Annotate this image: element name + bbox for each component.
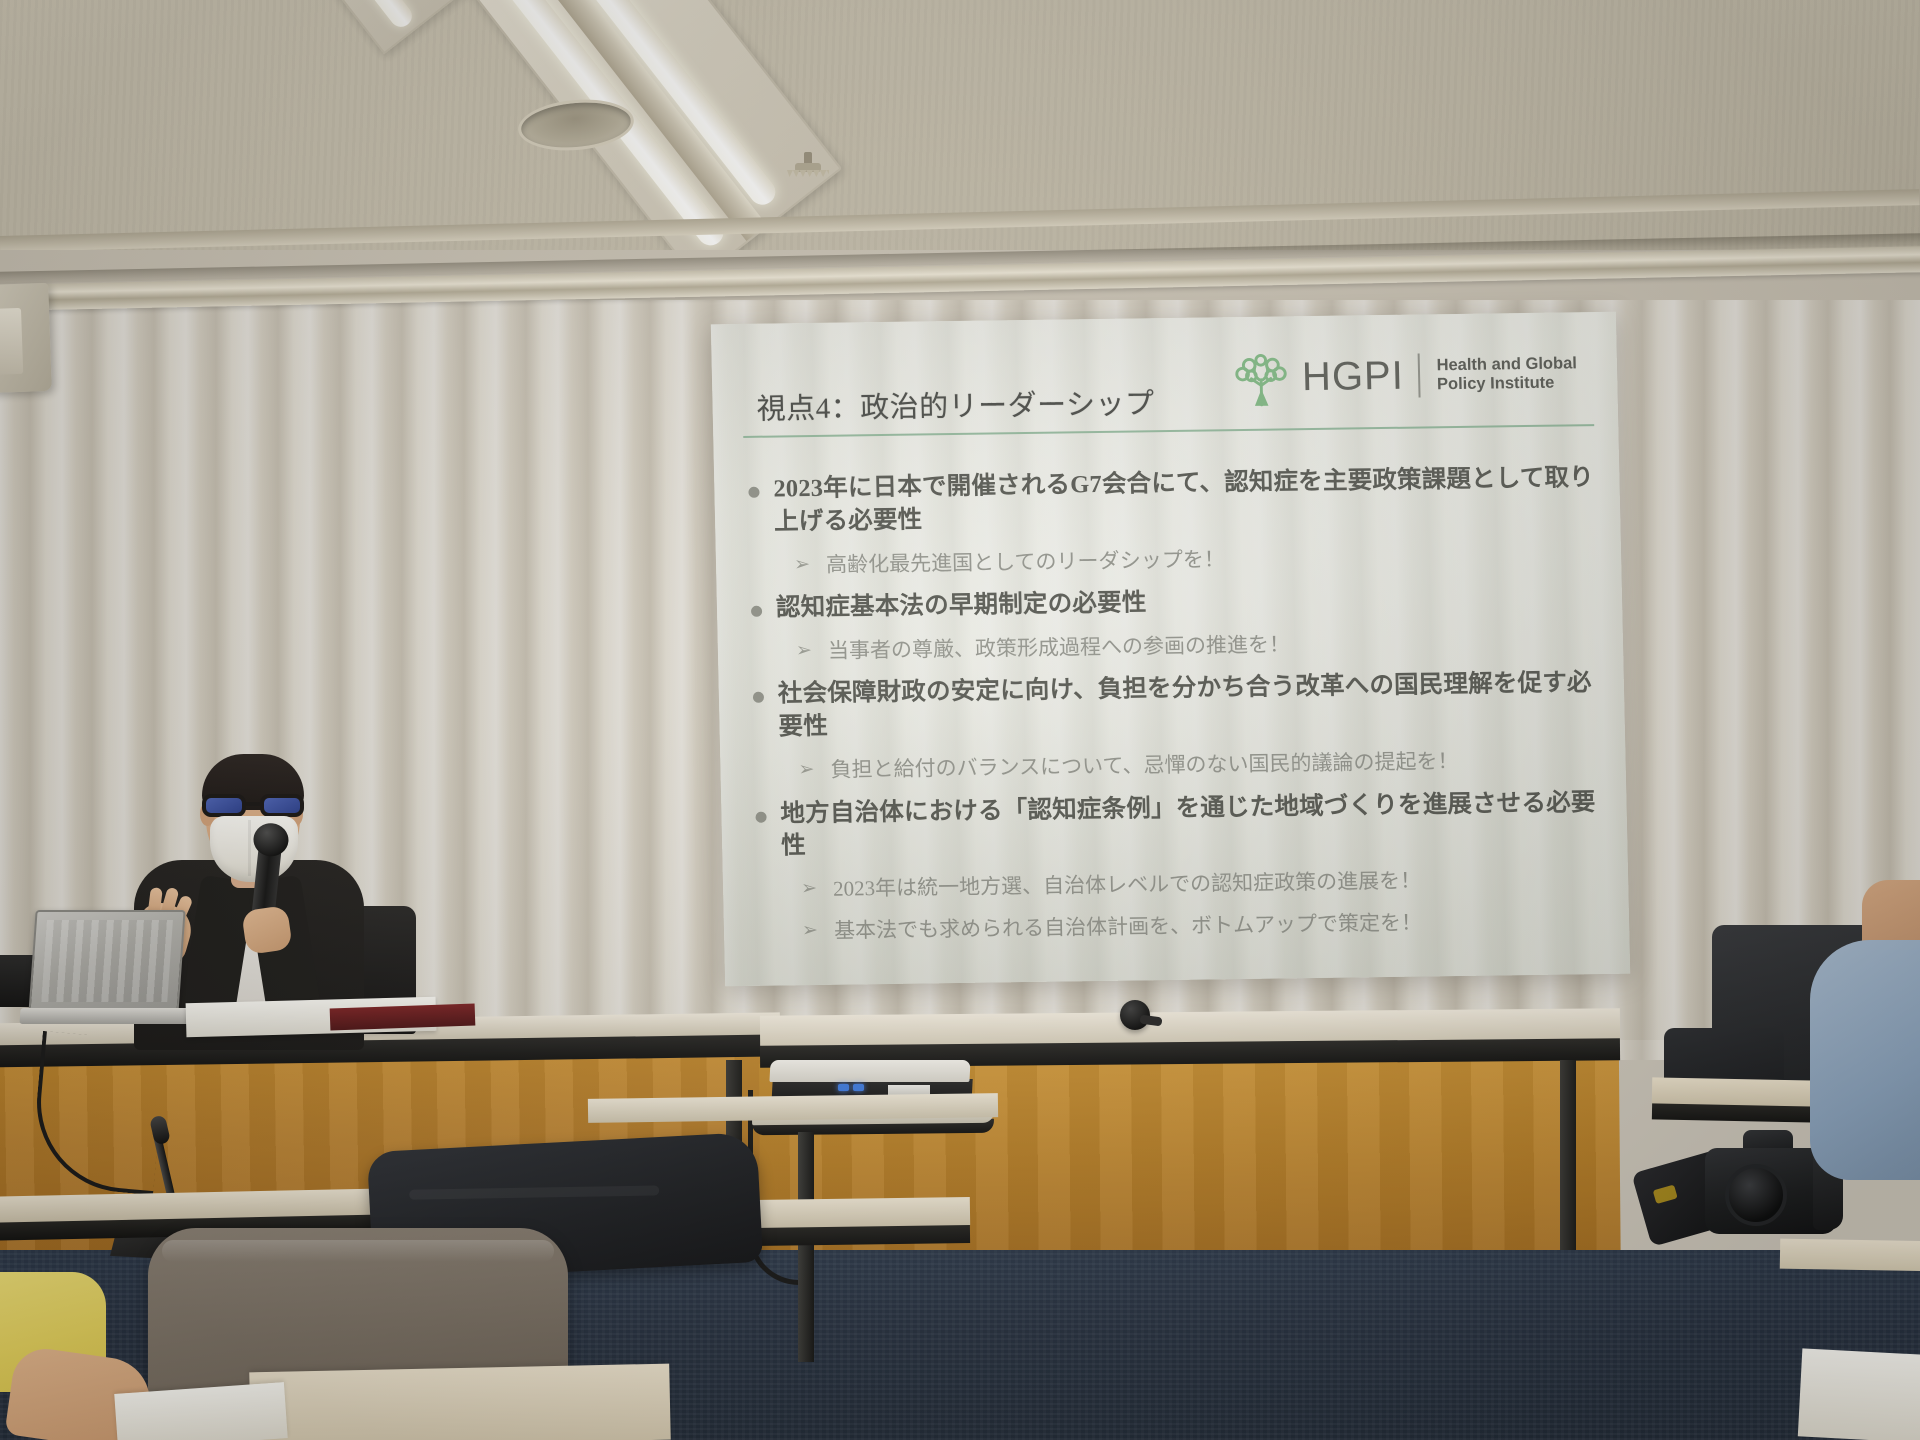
sprinkler-head-icon <box>785 152 831 186</box>
bullet-level1: 認知症基本法の早期制定の必要性 <box>751 581 1605 626</box>
hgpi-fullname-line1: Health and Global <box>1436 354 1577 375</box>
arrow-bullet-icon: ➢ <box>801 875 822 904</box>
hgpi-wordmark: HGPI <box>1302 356 1405 397</box>
right-desk-lower-top <box>1780 1239 1920 1272</box>
wall-speaker-icon <box>0 283 52 393</box>
bullet-text: 社会保障財政の安定に向け、負担を分かち合う改革への国民理解を促す必要性 <box>778 667 1607 744</box>
slide: 視点4：政治的リーダーシップ <box>711 312 1630 986</box>
slide-header: 視点4：政治的リーダーシップ <box>749 338 1584 458</box>
sprinkler-deflector <box>787 170 829 177</box>
projector-status-led <box>853 1084 864 1091</box>
laptop-base <box>19 1008 196 1024</box>
glasses-lens-left <box>202 794 246 817</box>
hgpi-logo: HGPI Health and Global Policy Institute <box>1229 342 1577 409</box>
projector-status-led <box>838 1084 849 1091</box>
bullet-dot-icon <box>755 811 766 822</box>
documents <box>1798 1348 1920 1440</box>
arrow-bullet-icon: ➢ <box>794 551 815 580</box>
bullet-level2: ➢ 当事者の尊厳、政策形成過程への参画の推進を！ <box>796 626 1606 666</box>
bullet-level1: 社会保障財政の安定に向け、負担を分かち合う改革への国民理解を促す必要性 <box>753 667 1607 745</box>
logo-divider <box>1417 354 1420 398</box>
slide-bullet-list: 2023年に日本で開催されるG7会合にて、認知症を主要政策課題として取り上げる必… <box>748 462 1612 959</box>
bullet-level1: 地方自治体における「認知症条例」を通じた地域づくりを進展させる必要性 <box>755 787 1609 865</box>
arrow-bullet-icon: ➢ <box>798 756 819 785</box>
bullet-dot-icon <box>748 487 759 498</box>
hgpi-fullname-line2: Policy Institute <box>1437 373 1578 394</box>
projector-stand-post <box>798 1132 814 1362</box>
bullet-text: 高齢化最先進国としてのリーダシップを！ <box>826 545 1225 579</box>
bullet-text: 認知症基本法の早期制定の必要性 <box>776 587 1147 625</box>
bullet-text: 負担と給付のバランスについて、忌憚のない国民的議論の提起を！ <box>830 747 1458 784</box>
slide-title: 視点4：政治的リーダーシップ <box>756 380 1155 428</box>
laptop <box>18 910 188 1030</box>
bullet-text: 2023年に日本で開催されるG7会合にて、認知症を主要政策課題として取り上げる必… <box>773 462 1602 539</box>
bullet-text: 地方自治体における「認知症条例」を通じた地域づくりを進展させる必要性 <box>780 787 1609 864</box>
laptop-screen <box>28 910 185 1014</box>
projection-screen: 視点4：政治的リーダーシップ <box>711 312 1630 986</box>
projector-top <box>769 1060 970 1082</box>
conference-room-photo: 視点4：政治的リーダーシップ <box>0 0 1920 1440</box>
bullet-dot-icon <box>753 692 764 703</box>
bullet-text: 2023年は統一地方選、自治体レベルでの認知症政策の進展を！ <box>833 867 1422 903</box>
arrow-bullet-icon: ➢ <box>802 917 823 946</box>
glasses-icon <box>202 794 306 818</box>
hgpi-fullname: Health and Global Policy Institute <box>1436 354 1577 394</box>
glasses-lens-right <box>260 794 304 817</box>
camera-lens-icon <box>1725 1164 1787 1226</box>
bullet-text: 当事者の尊厳、政策形成過程への参画の推進を！ <box>828 630 1291 665</box>
attendee-right <box>1810 880 1920 1180</box>
bullet-dot-icon <box>751 606 762 617</box>
bullet-text: 基本法でも求められる自治体計画を、ボトムアップで策定を！ <box>834 908 1423 944</box>
attendee-right-sleeve <box>1810 940 1920 1180</box>
bullet-level2: ➢ 高齢化最先進国としてのリーダシップを！ <box>794 540 1604 580</box>
front-row-desk <box>249 1364 670 1440</box>
bullet-level2: ➢ 基本法でも求められる自治体計画を、ボトムアップで策定を！ <box>802 906 1612 946</box>
bullet-level1: 2023年に日本で開催されるG7会合にて、認知症を主要政策課題として取り上げる必… <box>748 462 1602 540</box>
arrow-bullet-icon: ➢ <box>796 637 817 666</box>
bullet-level2: ➢ 負担と給付のバランスについて、忌憚のない国民的議論の提起を！ <box>798 745 1608 785</box>
tree-icon <box>1229 346 1292 409</box>
bullet-level2: ➢ 2023年は統一地方選、自治体レベルでの認知症政策の進展を！ <box>801 864 1611 904</box>
